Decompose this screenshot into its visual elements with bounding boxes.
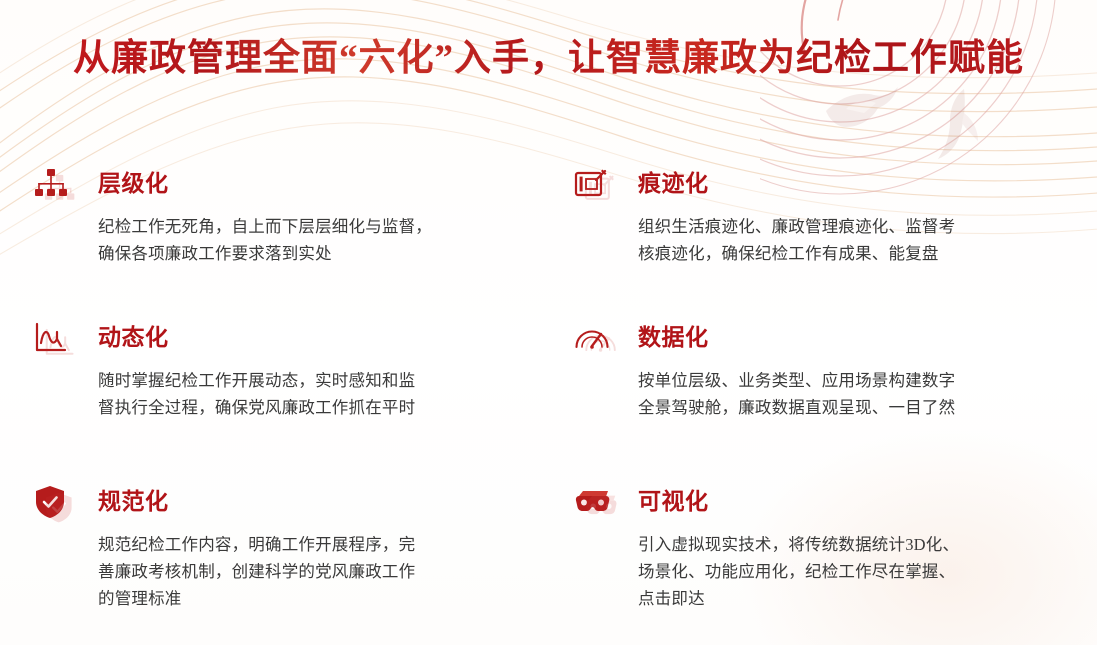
feature-title: 规范化 (98, 488, 169, 516)
feature-item-traceability: 痕迹化 组织生活痕迹化、廉政管理痕迹化、监督考 核痕迹化，确保纪检工作有成果、能… (574, 164, 1054, 267)
feature-title: 层级化 (98, 170, 169, 198)
feature-title: 数据化 (638, 324, 709, 352)
feature-description: 按单位层级、业务类型、应用场景构建数字 全景驾驶舱，廉政数据直观呈现、一目了然 (638, 367, 1054, 421)
page-title: 从廉政管理全面“六化”入手，让智慧廉政为纪检工作赋能 (73, 33, 1024, 85)
title-bar: 从廉政管理全面“六化”入手，让智慧廉政为纪检工作赋能 (0, 8, 1097, 110)
hierarchy-icon (34, 164, 78, 204)
feature-grid: 层级化 纪检工作无死角，自上而下层层细化与监督， 确保各项廉政工作要求落到实处 (0, 160, 1097, 640)
feature-item-hierarchy: 层级化 纪检工作无死角，自上而下层层细化与监督， 确保各项廉政工作要求落到实处 (34, 164, 514, 267)
feature-header: 动态化 (34, 318, 514, 358)
feature-description: 纪检工作无死角，自上而下层层细化与监督， 确保各项廉政工作要求落到实处 (98, 213, 514, 267)
feature-header: 规范化 (34, 482, 514, 522)
feature-title: 可视化 (638, 488, 709, 516)
gauge-icon (574, 318, 618, 358)
slide-canvas: 从廉政管理全面“六化”入手，让智慧廉政为纪检工作赋能 (0, 0, 1097, 645)
feature-item-datafication: 数据化 按单位层级、业务类型、应用场景构建数字 全景驾驶舱，廉政数据直观呈现、一… (574, 318, 1054, 421)
feature-description: 规范纪检工作内容，明确工作开展程序，完 善廉政考核机制，创建科学的党风廉政工作 … (98, 531, 514, 612)
feature-item-dynamic: 动态化 随时掌握纪检工作开展动态，实时感知和监 督执行全过程，确保党风廉政工作抓… (34, 318, 514, 421)
feature-description: 引入虚拟现实技术，将传统数据统计3D化、 场景化、功能应用化，纪检工作尽在掌握、… (638, 531, 1054, 612)
feature-description: 随时掌握纪检工作开展动态，实时感知和监 督执行全过程，确保党风廉政工作抓在平时 (98, 367, 514, 421)
feature-header: 数据化 (574, 318, 1054, 358)
feature-header: 层级化 (34, 164, 514, 204)
feature-title: 痕迹化 (638, 170, 709, 198)
feature-item-standardization: 规范化 规范纪检工作内容，明确工作开展程序，完 善廉政考核机制，创建科学的党风廉… (34, 482, 514, 612)
line-chart-icon (34, 318, 78, 358)
feature-header: 可视化 (574, 482, 1054, 522)
feature-header: 痕迹化 (574, 164, 1054, 204)
feature-title: 动态化 (98, 324, 169, 352)
vr-glasses-icon (574, 482, 618, 522)
shield-check-icon (34, 482, 78, 522)
feature-description: 组织生活痕迹化、廉政管理痕迹化、监督考 核痕迹化，确保纪检工作有成果、能复盘 (638, 213, 1054, 267)
clipboard-pen-icon (574, 164, 618, 204)
feature-item-visualization: 可视化 引入虚拟现实技术，将传统数据统计3D化、 场景化、功能应用化，纪检工作尽… (574, 482, 1054, 612)
